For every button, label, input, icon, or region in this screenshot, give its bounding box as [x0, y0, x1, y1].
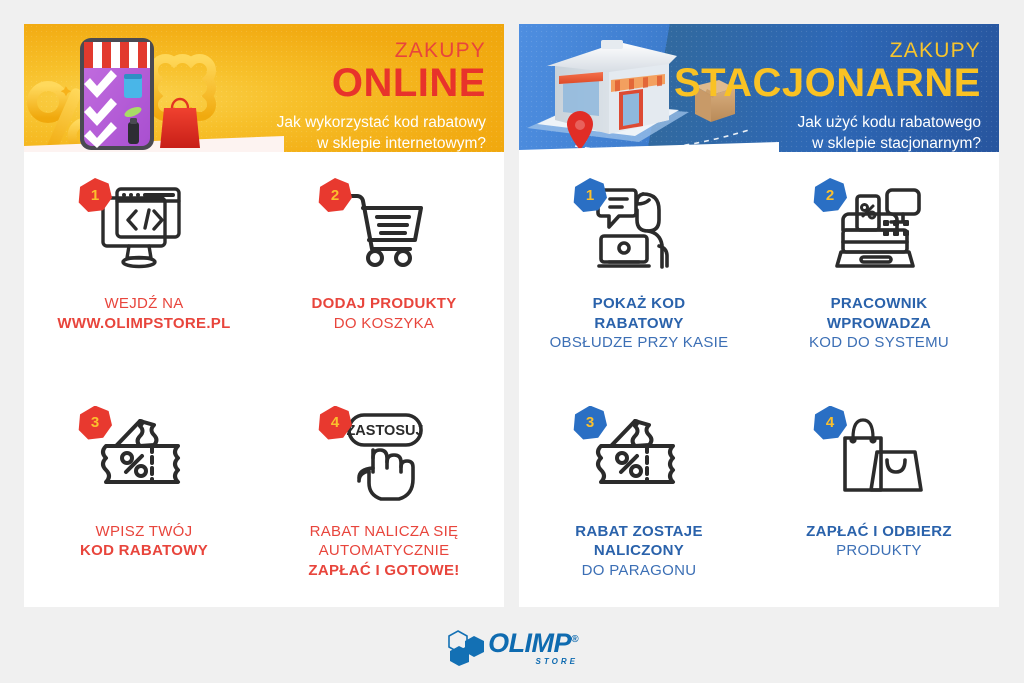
header-subtitle-line2: w sklepie stacjonarnym?: [674, 134, 981, 152]
header-text-online: ZAKUPY ONLINE Jak wykorzystać kod rabato…: [277, 40, 486, 152]
infographic-canvas: ZAKUPY ONLINE Jak wykorzystać kod rabato…: [0, 0, 1024, 683]
step-icon-area: 3: [74, 408, 214, 508]
panel-online: ZAKUPY ONLINE Jak wykorzystać kod rabato…: [24, 24, 504, 607]
caption-line: ZAPŁAĆ I GOTOWE!: [308, 561, 459, 581]
caption-line: DODAJ PRODUKTY: [311, 294, 456, 314]
step-icon-area: 2: [314, 180, 454, 280]
step-stacjonarne-2: 2: [759, 152, 999, 380]
step-stacjonarne-4: 4 ZAPŁAĆ I ODBIERZ: [759, 380, 999, 608]
registered-mark-icon: ®: [571, 634, 578, 645]
caption-line: PRACOWNIK: [809, 294, 949, 314]
step-caption: RABAT ZOSTAJE NALICZONY DO PARAGONU: [575, 522, 703, 581]
step-online-1: 1: [24, 152, 264, 380]
caption-line: RABAT NALICZA SIĘ: [308, 522, 459, 542]
caption-line: DO PARAGONU: [575, 561, 703, 581]
logo-wordmark: OLIMP®: [488, 631, 578, 655]
header-subtitle: Jak wykorzystać kod rabatowy w sklepie i…: [277, 113, 486, 152]
caption-line: PRODUKTY: [806, 541, 952, 561]
caption-line: ZAPŁAĆ I ODBIERZ: [806, 522, 952, 542]
caption-line: POKAŻ KOD: [550, 294, 729, 314]
caption-line: KOD RABATOWY: [80, 541, 208, 561]
caption-line: RABATOWY: [550, 314, 729, 334]
step-caption: RABAT NALICZA SIĘ AUTOMATYCZNIE ZAPŁAĆ I…: [308, 522, 459, 581]
header-subtitle-line2: w sklepie internetowym?: [277, 134, 486, 152]
caption-line: OBSŁUDZE PRZY KASIE: [550, 333, 729, 353]
header-kicker: ZAKUPY: [674, 40, 981, 61]
panel-stacjonarne: ZAKUPY STACJONARNE Jak użyć kodu rabatow…: [519, 24, 999, 607]
step-icon-area: 1: [74, 180, 214, 280]
step-caption: POKAŻ KOD RABATOWY OBSŁUDZE PRZY KASIE: [550, 294, 729, 353]
footer: OLIMP® STORE: [0, 612, 1024, 683]
online-shopping-illustration: [24, 24, 284, 152]
step-caption: ZAPŁAĆ I ODBIERZ PRODUKTY: [806, 522, 952, 561]
caption-line: WPISZ TWÓJ: [80, 522, 208, 542]
step-caption: PRACOWNIK WPROWADZA KOD DO SYSTEMU: [809, 294, 949, 353]
header-subtitle: Jak użyć kodu rabatowego w sklepie stacj…: [674, 113, 981, 152]
header-online: ZAKUPY ONLINE Jak wykorzystać kod rabato…: [24, 24, 504, 152]
step-online-3: 3 WPISZ TWÓJ: [24, 380, 264, 608]
olimp-store-logo[interactable]: OLIMP® STORE: [446, 630, 578, 666]
step-icon-area: 1: [569, 180, 709, 280]
caption-line: NALICZONY: [575, 541, 703, 561]
olimp-hexagons-icon: [446, 630, 486, 666]
step-icon-area: 2: [809, 180, 949, 280]
header-stacjonarne: ZAKUPY STACJONARNE Jak użyć kodu rabatow…: [519, 24, 999, 152]
header-kicker: ZAKUPY: [277, 40, 486, 61]
caption-line: WWW.OLIMPSTORE.PL: [57, 314, 230, 334]
header-subtitle-line1: Jak użyć kodu rabatowego: [674, 113, 981, 134]
apply-button-label: ZASTOSUJ: [346, 423, 423, 439]
step-online-2: 2 DODAJ PRODUKTY: [264, 152, 504, 380]
caption-line: WEJDŹ NA: [57, 294, 230, 314]
step-caption: WEJDŹ NA WWW.OLIMPSTORE.PL: [57, 294, 230, 333]
caption-line: DO KOSZYKA: [311, 314, 456, 334]
step-caption: DODAJ PRODUKTY DO KOSZYKA: [311, 294, 456, 333]
step-online-4: 4 ZASTOSUJ RABAT NALIC: [264, 380, 504, 608]
step-icon-area: 3: [569, 408, 709, 508]
caption-line: WPROWADZA: [809, 314, 949, 334]
step-icon-area: 4: [809, 408, 949, 508]
header-text-stacjonarne: ZAKUPY STACJONARNE Jak użyć kodu rabatow…: [674, 40, 981, 152]
step-stacjonarne-3: 3 RABAT ZOSTAJE: [519, 380, 759, 608]
step-icon-area: 4 ZASTOSUJ: [314, 408, 454, 508]
step-stacjonarne-1: 1: [519, 152, 759, 380]
steps-online: 1: [24, 152, 504, 607]
step-caption: WPISZ TWÓJ KOD RABATOWY: [80, 522, 208, 561]
steps-stacjonarne: 1: [519, 152, 999, 607]
header-subtitle-line1: Jak wykorzystać kod rabatowy: [277, 113, 486, 134]
logo-word-text: OLIMP: [488, 628, 571, 658]
caption-line: AUTOMATYCZNIE: [308, 541, 459, 561]
caption-line: RABAT ZOSTAJE: [575, 522, 703, 542]
header-title: ONLINE: [277, 62, 486, 104]
header-title: STACJONARNE: [674, 62, 981, 104]
caption-line: KOD DO SYSTEMU: [809, 333, 949, 353]
